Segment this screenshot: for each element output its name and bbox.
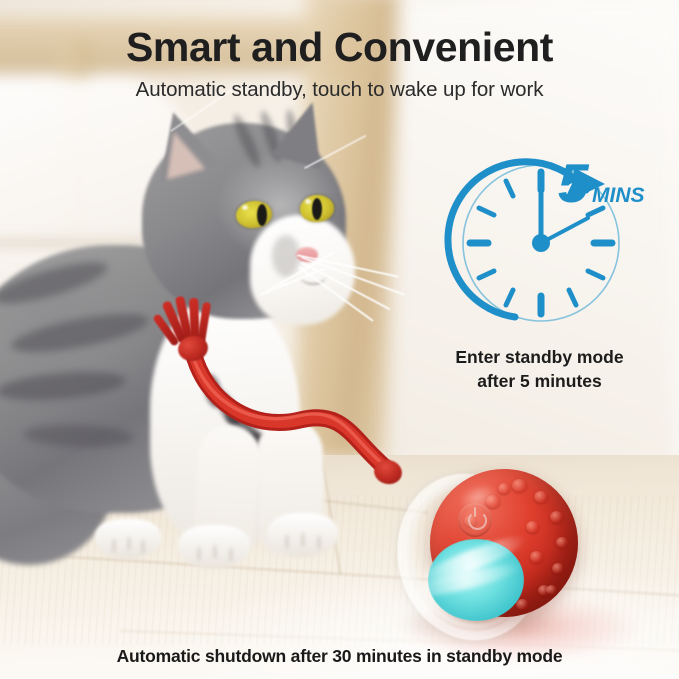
cat-eye-highlight bbox=[305, 199, 311, 204]
cat-toe-line bbox=[230, 548, 232, 561]
cat-toe-line bbox=[113, 539, 115, 552]
power-symbol-ring bbox=[468, 511, 487, 530]
clock-unit-mins: MINS bbox=[592, 184, 645, 207]
cat-toe-line bbox=[286, 535, 288, 548]
cat-paw bbox=[178, 525, 250, 569]
cat-pupil-left bbox=[257, 204, 267, 226]
cat-eye-highlight bbox=[242, 205, 248, 210]
page-title: Smart and Convenient bbox=[0, 26, 679, 69]
cat-paw bbox=[268, 513, 338, 557]
bottom-caption: Automatic shutdown after 30 minutes in s… bbox=[0, 646, 679, 667]
clock-caption: Enter standby mode after 5 minutes bbox=[400, 346, 679, 393]
clock-caption-line1: Enter standby mode bbox=[400, 346, 679, 370]
cat-pupil-right bbox=[312, 198, 322, 220]
clock-svg: 5 MINS bbox=[440, 140, 650, 330]
clock-timer-icon: 5 MINS bbox=[440, 140, 650, 330]
cat-photo-subject bbox=[0, 95, 400, 565]
cat-ball-toy[interactable] bbox=[392, 455, 592, 635]
cat-toe-line bbox=[318, 536, 320, 549]
cat-toe-line bbox=[214, 545, 216, 558]
cat-toe-line bbox=[128, 537, 130, 550]
power-symbol-stem bbox=[474, 507, 476, 517]
clock-caption-line2: after 5 minutes bbox=[400, 370, 679, 394]
page-subtitle: Automatic standby, touch to wake up for … bbox=[0, 78, 679, 102]
cat-toe-line bbox=[302, 533, 304, 546]
power-button-icon[interactable] bbox=[458, 503, 492, 537]
cat-toe-line bbox=[142, 540, 144, 553]
cat-paw bbox=[95, 519, 161, 559]
clock-value-5: 5 bbox=[558, 152, 590, 214]
cat-toe-line bbox=[198, 547, 200, 560]
product-feature-image: 5 MINS Smart and Convenient Automatic st… bbox=[0, 0, 679, 679]
